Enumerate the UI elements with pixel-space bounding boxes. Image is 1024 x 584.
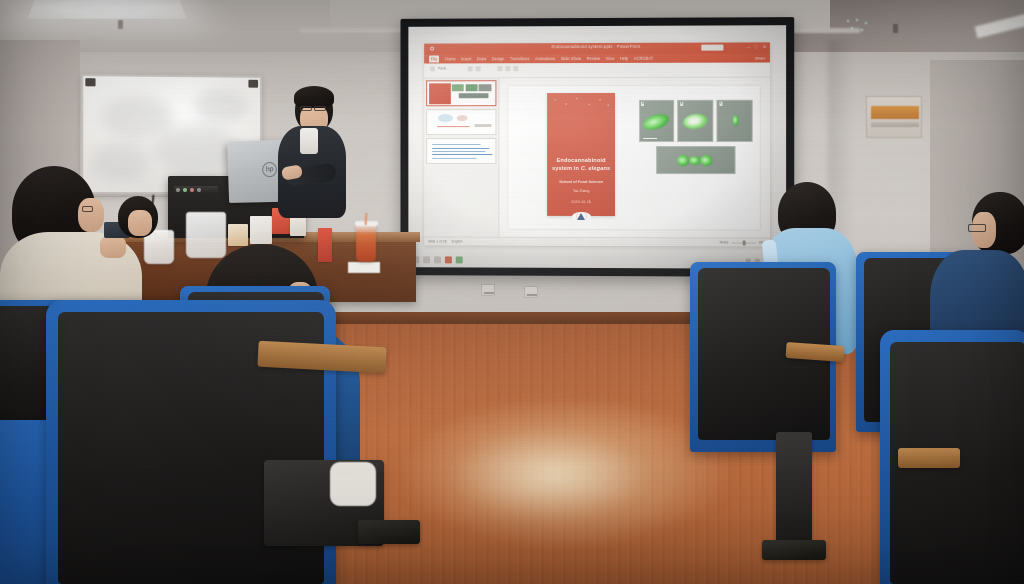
presenter-collar: [300, 128, 318, 154]
slide-title-line2-prefix: system in: [552, 166, 581, 172]
podium-button-2[interactable]: [183, 188, 187, 192]
ribbon-toolstrip[interactable]: Paste: [424, 62, 770, 78]
font-bold-icon[interactable]: [497, 66, 502, 71]
podium-button-3[interactable]: [190, 188, 194, 192]
ceiling-light-panel-icon: [27, 0, 186, 19]
micrograph-panel-c: c: [717, 100, 753, 142]
micrograph-panel-d: [656, 146, 736, 174]
powerpoint-statusbar: Slide 1 of 28 English Notes 68%: [424, 237, 770, 247]
attendee-right-2-glasses: [968, 224, 986, 232]
presenter-glasses-right: [314, 106, 326, 111]
zoom-slider-handle[interactable]: [743, 240, 746, 245]
panel-label-b: b: [680, 102, 683, 105]
micrograph-panel-a: a: [639, 100, 675, 142]
seat-foot-right: [762, 540, 826, 560]
autosave-toggle-icon[interactable]: [430, 47, 434, 51]
font-color-icon[interactable]: [513, 66, 518, 71]
current-slide[interactable]: Endocannabinoid system in C. elegans Sch…: [509, 86, 760, 230]
notes-button[interactable]: Notes: [720, 241, 729, 245]
slide-thumbnail-1[interactable]: [426, 80, 496, 106]
floor-light-reflection-core: [450, 430, 650, 520]
account-badge[interactable]: [701, 44, 723, 50]
panel-label-c: c: [719, 102, 722, 105]
ribbon-tab-file[interactable]: File: [429, 55, 439, 62]
powerpoint-body: Endocannabinoid system in C. elegans Sch…: [424, 78, 770, 238]
projection-screen-surface: Endocannabinoid system.pptx · PowerPoint…: [408, 25, 786, 269]
maximize-button[interactable]: □: [755, 43, 758, 51]
attendee-left-1-hand: [100, 236, 126, 258]
wechat-icon[interactable]: [456, 256, 463, 263]
white-bag-on-armrest: [330, 462, 376, 506]
paste-label: Paste: [438, 67, 447, 71]
minimize-button[interactable]: –: [747, 43, 750, 51]
presenter-glasses-left: [300, 106, 312, 111]
panel-label-a: a: [641, 102, 644, 105]
presenter-hair: [294, 86, 334, 108]
ribbon-tab-animations[interactable]: Animations: [535, 56, 555, 61]
sprinkler-icon: [118, 20, 123, 29]
paste-icon[interactable]: [430, 66, 435, 71]
seat-pedestal-right: [776, 432, 812, 550]
slide-date: 2023.10.25: [571, 200, 590, 204]
cover-dot-pattern: [547, 93, 615, 115]
snack-box-1: [228, 224, 248, 246]
ribbon-tab-home[interactable]: Home: [445, 56, 456, 61]
ribbon-tab-view[interactable]: View: [606, 56, 615, 61]
share-button[interactable]: Share: [755, 55, 766, 60]
zoom-slider[interactable]: [731, 242, 755, 243]
ribbon-tab-help[interactable]: Help: [620, 56, 628, 61]
napkin: [348, 262, 380, 273]
micrograph-panel-b: b: [678, 100, 714, 142]
ribbon-tab-insert[interactable]: Insert: [461, 56, 471, 61]
close-button[interactable]: ✕: [763, 43, 767, 51]
armrest-right-2: [898, 448, 960, 468]
whiteboard-clip-tr: [248, 80, 258, 88]
projection-screen: Endocannabinoid system.pptx · PowerPoint…: [400, 17, 794, 277]
thumb-cover-block: [429, 83, 451, 104]
notice-subbanner: [871, 122, 919, 127]
font-italic-icon[interactable]: [505, 66, 510, 71]
slide-thumbnail-2[interactable]: [426, 109, 496, 135]
windows-desktop: Endocannabinoid system.pptx · PowerPoint…: [408, 25, 786, 269]
search-icon[interactable]: [423, 256, 430, 263]
podium-control-panel[interactable]: [174, 186, 218, 194]
figure-top-row: a b: [639, 100, 753, 142]
ribbon-tab-draw[interactable]: Draw: [477, 56, 486, 61]
podium-button-4[interactable]: [197, 188, 201, 192]
language-indicator[interactable]: English: [452, 240, 463, 244]
ribbon-tab-design[interactable]: Design: [492, 56, 505, 61]
plastic-bag-1: [186, 212, 226, 258]
ribbon-tab-slideshow[interactable]: Slide Show: [561, 56, 581, 61]
wall-outlet-2: [524, 286, 538, 298]
attendee-left-1-glasses: [82, 206, 93, 212]
slide-title: Endocannabinoid system in C. elegans: [550, 158, 612, 173]
ceiling-sensor-dots: [845, 18, 877, 36]
slide-title-line1: Endocannabinoid: [557, 158, 606, 164]
slide-figure-group: a b: [639, 100, 753, 189]
wall-outlet-1: [481, 284, 495, 296]
snack-box-2: [250, 216, 272, 244]
wall-notice-board: [866, 96, 922, 138]
attendee-left-1-face: [78, 198, 104, 232]
layout-icon[interactable]: [475, 66, 480, 71]
slide-cover-card: Endocannabinoid system in C. elegans Sch…: [547, 93, 615, 216]
slide-title-species: C. elegans: [581, 166, 610, 172]
hp-logo-icon: hp: [262, 162, 277, 178]
new-slide-icon[interactable]: [468, 66, 473, 71]
statusbar-right-group[interactable]: Notes 68%: [720, 241, 766, 245]
powerpoint-icon[interactable]: [445, 256, 452, 263]
powerpoint-window[interactable]: Endocannabinoid system.pptx · PowerPoint…: [424, 42, 770, 246]
ribbon-tab-transitions[interactable]: Transitions: [510, 56, 530, 61]
slide-thumbnail-3[interactable]: [426, 138, 496, 164]
snack-box-5: [318, 228, 332, 262]
slide-counter: Slide 1 of 28: [428, 240, 447, 244]
seat-foot-left: [358, 520, 420, 544]
drink-cup: [356, 224, 376, 262]
slide-presenter-name: Tao Zhang: [573, 189, 590, 193]
podium-button-1[interactable]: [176, 188, 180, 192]
slide-subtitle: School of Food Science: [559, 179, 603, 184]
slide-thumbnail-rail[interactable]: [424, 78, 499, 237]
attendee-left-3-face: [128, 210, 152, 236]
explorer-icon[interactable]: [434, 256, 441, 263]
lecture-hall-photo: Endocannabinoid system.pptx · PowerPoint…: [0, 0, 1024, 584]
slide-editing-stage[interactable]: Endocannabinoid system in C. elegans Sch…: [499, 78, 769, 238]
ribbon-tab-review[interactable]: Review: [587, 56, 600, 61]
whiteboard-clip-tl: [85, 78, 95, 86]
sprinkler-icon-2: [893, 24, 898, 33]
notice-banner: [871, 106, 919, 119]
ribbon-tab-acrobat[interactable]: ACROBAT: [634, 56, 654, 61]
university-crest-icon: [572, 212, 591, 221]
document-title: Endocannabinoid system.pptx · PowerPoint: [551, 44, 640, 49]
scale-bar-icon: [643, 138, 657, 139]
window-controls[interactable]: – □ ✕: [747, 43, 766, 51]
